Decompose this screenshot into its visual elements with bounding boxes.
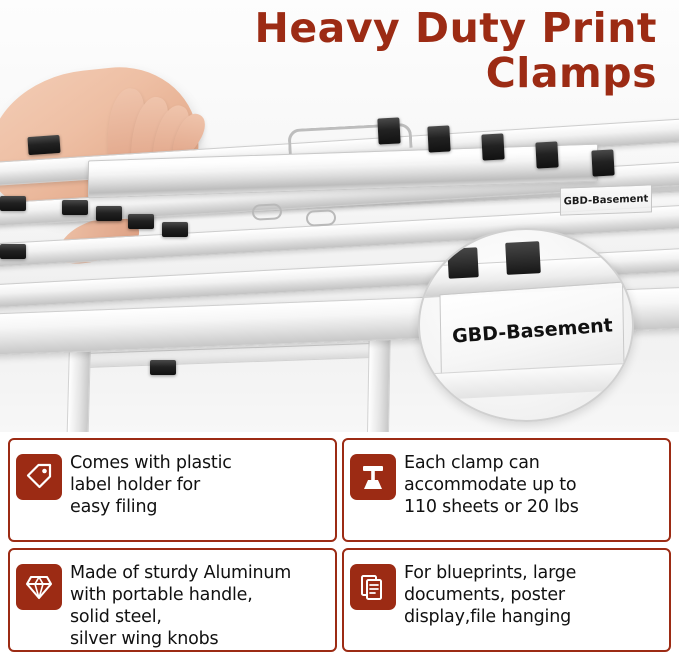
rack-brand-label: GBD-Basement [560, 184, 652, 215]
print-clamp [162, 222, 188, 237]
diamond-icon [16, 564, 62, 610]
feature-card-usage: For blueprints, large documents, poster … [342, 548, 671, 652]
feature-grid: Comes with plastic label holder for easy… [8, 438, 671, 652]
print-clamp [0, 244, 26, 259]
print-clamp [0, 196, 26, 211]
clamp-icon [350, 454, 396, 500]
feature-text: Comes with plastic label holder for easy… [70, 448, 232, 518]
tag-label-icon [16, 454, 62, 500]
print-clamp [377, 117, 400, 144]
feature-text: Made of sturdy Aluminum with portable ha… [70, 558, 291, 650]
print-clamp [62, 200, 88, 215]
wing-knob [306, 209, 337, 227]
documents-icon [350, 564, 396, 610]
print-clamp [27, 135, 60, 155]
print-clamp [535, 141, 558, 168]
wing-knob [252, 203, 283, 221]
feature-card-label-holder: Comes with plastic label holder for easy… [8, 438, 337, 542]
product-photo: GBD-Basement GBD-Basement [0, 0, 679, 432]
print-clamp [96, 206, 122, 221]
zoom-callout: GBD-Basement [418, 228, 634, 422]
callout-label-text: GBD-Basement [451, 314, 613, 347]
feature-card-material: Made of sturdy Aluminum with portable ha… [8, 548, 337, 652]
print-clamp [427, 125, 450, 152]
print-clamp [128, 214, 154, 229]
print-clamp [481, 133, 504, 160]
feature-text: Each clamp can accommodate up to 110 she… [404, 448, 579, 518]
callout-clamp [447, 247, 479, 279]
rack-brand-label-text: GBD-Basement [564, 193, 649, 207]
callout-clamp [505, 241, 541, 275]
print-clamp [150, 360, 176, 375]
feature-text: For blueprints, large documents, poster … [404, 558, 576, 628]
print-clamp [591, 149, 614, 176]
feature-card-capacity: Each clamp can accommodate up to 110 she… [342, 438, 671, 542]
